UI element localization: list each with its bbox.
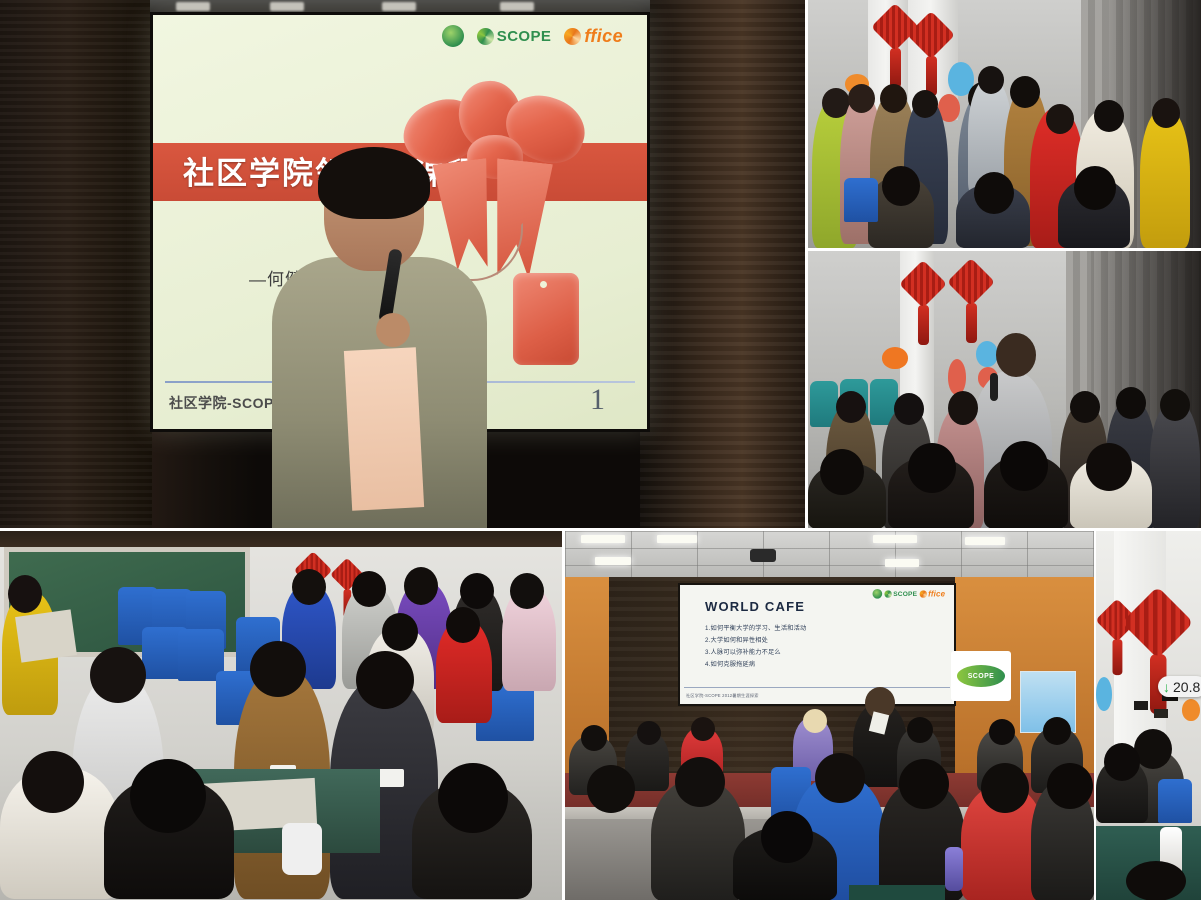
ceiling-light <box>382 2 416 11</box>
photo-lecture-hall[interactable]: SCOPE ffice WORLD CAFE 1.如何平衡大学的学习、生活和活动… <box>565 531 1094 900</box>
attendee-head <box>292 569 326 605</box>
attendee-head <box>907 717 933 743</box>
ceiling-light <box>965 537 1005 545</box>
attendee-head <box>1074 166 1116 210</box>
newspaper <box>15 609 77 662</box>
scope-standee-banner: SCOPE <box>951 651 1011 701</box>
attendee-head <box>882 166 920 206</box>
attendee-head <box>130 759 206 833</box>
attendee-head <box>510 573 544 609</box>
attendee-head <box>803 709 827 733</box>
photo-card <box>1154 709 1168 718</box>
office-logo-text: ffice <box>928 589 945 598</box>
scroll-position-badge[interactable]: ↓ 20.8 <box>1158 676 1201 697</box>
paper-sheet <box>344 347 424 511</box>
attendee-head <box>1000 441 1048 491</box>
spiral-icon <box>884 590 891 597</box>
scope-logo-text: SCOPE <box>497 28 552 45</box>
attendee-head <box>761 811 813 863</box>
attendee-head <box>848 84 875 113</box>
slide-footer: 社区学院-SCOPE <box>169 393 284 413</box>
attendee-head <box>1116 387 1146 419</box>
panda-toy <box>282 823 322 875</box>
attendee-head <box>820 449 864 495</box>
ceiling-edge <box>0 531 562 547</box>
chinese-knot-decoration <box>878 10 912 88</box>
photo-speaker-presentation[interactable]: SCOPE ffice 社区学院领导力课程 —何健老师 <box>0 0 805 528</box>
photo-question-asker[interactable] <box>808 251 1201 528</box>
leaf-circle-icon <box>872 589 882 599</box>
ceiling-light <box>657 535 697 543</box>
slide-divider <box>684 687 950 688</box>
office-logo-text: ffice <box>584 26 623 47</box>
attendee-head <box>1126 861 1186 900</box>
world-cafe-bullets: 1.如何平衡大学的学习、生活和活动 2.大学如何和异性相处 3.人脉可以弥补能力… <box>705 623 806 671</box>
ceiling-light <box>595 557 631 565</box>
scroll-badge-value: 20.8 <box>1173 679 1200 695</box>
slide-footer: 社区学院-SCOPE 2012暑期生涯探索 <box>686 693 759 699</box>
attendee-head <box>438 763 508 833</box>
attendee-head <box>981 763 1029 813</box>
scope-logo-text: SCOPE <box>893 590 917 597</box>
attendee-head <box>880 84 907 113</box>
attendee-head <box>250 641 306 697</box>
attendee-head <box>836 391 866 423</box>
leaf-circle-icon <box>442 25 464 47</box>
ceiling-light <box>176 2 210 11</box>
balloon-decoration <box>1182 699 1200 721</box>
ceiling-light <box>270 2 304 11</box>
bullet-item: 1.如何平衡大学的学习、生活和活动 <box>705 623 806 635</box>
photo-classroom-crowd[interactable] <box>808 0 1201 248</box>
balloon-decoration <box>1096 677 1112 711</box>
scope-logo: SCOPE <box>884 590 917 597</box>
ceiling-light <box>873 535 917 543</box>
projection-screen: SCOPE ffice WORLD CAFE 1.如何平衡大学的学习、生活和活动… <box>678 583 956 706</box>
attendee-head <box>1104 743 1140 781</box>
photo-group-workshop[interactable] <box>0 531 562 900</box>
office-logo: ffice <box>564 26 623 47</box>
presenter-figure <box>272 153 487 528</box>
attendee-head <box>90 647 146 703</box>
attendee-head <box>1010 76 1040 108</box>
wood-wall-right <box>640 0 805 528</box>
ceiling-panels <box>565 531 1094 581</box>
speaker-head <box>996 333 1036 377</box>
photo-card <box>1134 701 1148 710</box>
chinese-knot-decoration <box>914 18 948 96</box>
attendee-head <box>948 391 978 425</box>
chinese-knot-decoration <box>954 265 988 343</box>
attendee-head <box>908 443 956 493</box>
attendee-head <box>974 172 1014 214</box>
scope-banner-text: SCOPE <box>957 665 1005 687</box>
attendee-head <box>404 567 438 605</box>
attendee <box>1140 108 1190 248</box>
attendee-head <box>382 613 418 651</box>
bullet-item: 3.人脉可以弥补能力不足么 <box>705 647 806 659</box>
attendee-head <box>675 757 725 807</box>
attendee-head <box>899 759 949 809</box>
desk-surface <box>849 885 945 900</box>
attendee-head <box>1094 100 1124 132</box>
chinese-knot-decoration <box>906 267 940 345</box>
name-badge <box>378 769 404 787</box>
attendee-head <box>1046 104 1074 134</box>
projector <box>750 549 776 562</box>
bullet-item: 4.如何克服拖延病 <box>705 659 806 671</box>
attendee-head <box>894 393 924 425</box>
attendee-head <box>1047 763 1093 809</box>
attendee-head <box>356 651 414 709</box>
world-cafe-title: WORLD CAFE <box>705 599 805 614</box>
attendee-head <box>1152 98 1180 128</box>
down-arrow-icon: ↓ <box>1163 680 1170 694</box>
classroom-chair <box>844 178 878 222</box>
attendee-head <box>460 573 494 609</box>
attendee-head <box>446 607 480 643</box>
ceiling-light <box>500 2 534 11</box>
microphone-icon <box>990 373 998 401</box>
photo-collage: SCOPE ffice 社区学院领导力课程 —何健老师 <box>0 0 1201 900</box>
wood-wall-left <box>0 0 152 528</box>
ceiling-light <box>581 535 625 543</box>
attendee-head <box>8 575 42 613</box>
attendee-head <box>989 719 1015 745</box>
scope-logo: SCOPE <box>477 28 552 45</box>
spiral-icon <box>919 590 926 597</box>
attendee-head <box>352 571 386 607</box>
attendee-head <box>587 765 635 813</box>
slide-logo-row: SCOPE ffice <box>442 25 623 47</box>
balloon-decoration <box>976 341 998 367</box>
attendee-head <box>1160 389 1190 421</box>
spiral-icon <box>477 28 494 45</box>
attendee-head <box>912 90 938 118</box>
office-logo: ffice <box>919 589 945 598</box>
attendee-head <box>815 753 865 803</box>
attendee-head <box>978 66 1004 94</box>
attendee-head <box>1086 443 1132 491</box>
ceiling-light <box>885 559 919 567</box>
spiral-icon <box>564 28 581 45</box>
attendee-head <box>1043 717 1071 745</box>
auditorium-seat <box>1158 779 1192 823</box>
thermos-bottle <box>945 847 963 891</box>
attendee-head <box>581 725 607 751</box>
attendee-head <box>1070 391 1100 423</box>
attendee-head <box>637 721 661 745</box>
slide-logo-row: SCOPE ffice <box>872 589 945 599</box>
balloon-decoration <box>948 359 966 395</box>
photo-wall-decorations[interactable] <box>1096 531 1201 900</box>
attendee-head <box>22 751 84 813</box>
balloon-decoration <box>882 347 908 369</box>
slide-page-number: 1 <box>590 383 605 417</box>
gift-tag <box>513 273 579 365</box>
attendee-head <box>691 717 715 741</box>
bullet-item: 2.大学如何和异性相处 <box>705 635 806 647</box>
